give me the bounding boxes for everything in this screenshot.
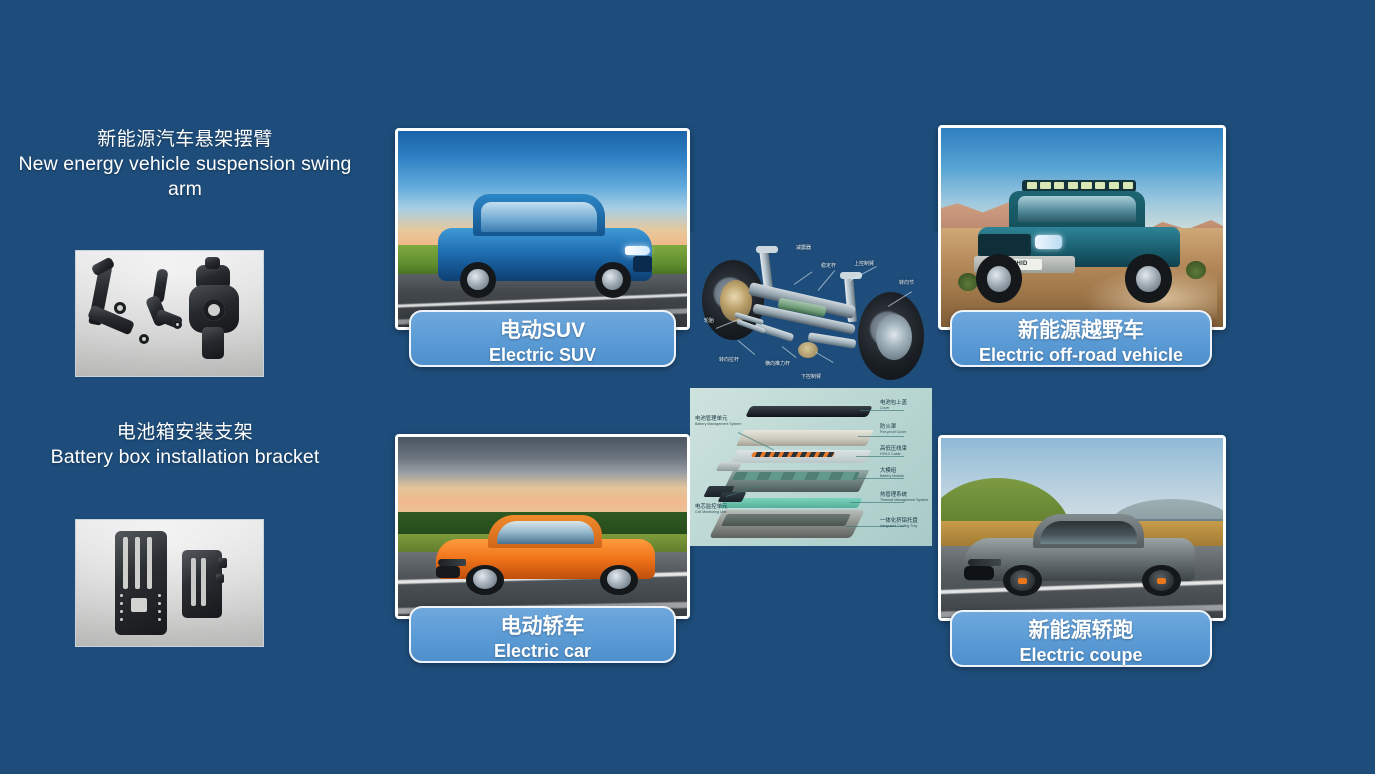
headlight xyxy=(968,559,1000,566)
control-arm-shape xyxy=(202,327,224,359)
grille xyxy=(964,566,994,579)
bracket-slot xyxy=(135,537,140,589)
leader-line xyxy=(858,436,904,437)
photo-electric-offroad: UHID xyxy=(941,128,1223,327)
bracket-tab xyxy=(216,574,224,583)
label-cn: 电动轿车 xyxy=(421,614,664,640)
part-caption-suspension: 新能源汽车悬架摆臂 New energy vehicle suspension … xyxy=(0,128,370,202)
vehicle-windows xyxy=(481,202,596,232)
chassis-label-upper-control-arm: 上控制臂 xyxy=(854,260,874,267)
label-en: Fire-proof Cover xyxy=(880,430,906,434)
card-electric-coupe[interactable] xyxy=(938,435,1226,621)
diagram-suspension-chassis: 减震器 稳定杆 上控制臂 转向节 轮胎 转向拉杆 横向推力杆 下控制臂 xyxy=(690,232,938,388)
control-arm-bushing xyxy=(114,302,126,314)
part-block-suspension-swing-arm: 新能源汽车悬架摆臂 New energy vehicle suspension … xyxy=(0,128,370,202)
tray-interior xyxy=(721,514,851,526)
bracket-hole xyxy=(120,602,123,605)
label-en: Electric off-road vehicle xyxy=(962,344,1200,367)
wheel-rim xyxy=(876,314,912,360)
label-electric-suv[interactable]: 电动SUV Electric SUV xyxy=(409,310,676,367)
battery-label-cooling-tray: 一体化挤铝托盘 Integrated Cooling Tray xyxy=(880,518,918,528)
battery-label-thermal-management: 热管理系统 Thermal Management System xyxy=(880,492,928,502)
wheel-rim xyxy=(1136,266,1160,292)
vehicle-silhouette-suv xyxy=(438,192,652,298)
label-en: Cover xyxy=(880,406,907,410)
studio-backdrop xyxy=(76,520,263,646)
bracket-slot xyxy=(147,537,152,589)
photo-electric-coupe xyxy=(941,438,1223,618)
part-caption-cn: 电池箱安装支架 xyxy=(12,421,358,445)
label-en: Electric SUV xyxy=(421,344,664,367)
bracket-slot xyxy=(191,558,196,606)
leader-line xyxy=(818,270,835,291)
chassis-label-steering-tie-rod: 转向拉杆 xyxy=(719,356,739,363)
control-arm-shape xyxy=(205,257,220,269)
battery-label-hv-lv-cable: 高低压线束 HV/LV Cable xyxy=(880,446,907,456)
part-photo-battery-bracket xyxy=(75,519,264,647)
leader-line xyxy=(794,271,813,284)
photo-electric-suv xyxy=(398,131,687,327)
battery-layer-fireproof-cover xyxy=(736,430,874,446)
chassis-label-steering-knuckle: 转向节 xyxy=(899,279,914,286)
label-en: HV/LV Cable xyxy=(880,452,907,456)
wheel-rim xyxy=(467,269,488,290)
vehicle-silhouette-sedan xyxy=(436,505,656,595)
label-cn: 电动SUV xyxy=(421,318,664,344)
bracket-hole xyxy=(120,610,123,613)
battery-layer-cover xyxy=(745,406,872,417)
label-en: Battery Module xyxy=(880,474,904,478)
bracket-tab xyxy=(218,558,227,568)
chassis-label-stabilizer-bar: 稳定杆 xyxy=(821,262,836,269)
vehicle-silhouette-offroad: UHID xyxy=(969,180,1189,303)
label-en: Cell Monitoring Unit xyxy=(695,510,727,514)
control-arm-bushing xyxy=(139,334,149,344)
card-electric-car[interactable] xyxy=(395,434,690,619)
battery-label-cover: 电池包上盖 Cover xyxy=(880,400,907,410)
vehicle-windows xyxy=(497,521,594,544)
vehicle-windows xyxy=(1040,521,1137,544)
battery-module-cells xyxy=(732,472,860,480)
battery-management-unit xyxy=(716,462,742,471)
headlight xyxy=(438,559,467,566)
chassis-label-lateral-thrust-rod: 横向推力杆 xyxy=(765,360,790,367)
label-en: Electric car xyxy=(421,640,664,663)
spring-seat-hole xyxy=(203,299,225,321)
card-electric-suv[interactable] xyxy=(395,128,690,330)
bracket-hole xyxy=(158,602,161,605)
battery-label-bms: 电池管理单元 Battery Management System xyxy=(695,416,741,426)
photo-electric-car xyxy=(398,437,687,616)
grille xyxy=(633,256,652,272)
label-en: Thermal Management System xyxy=(880,498,928,502)
part-caption-en: Battery box installation bracket xyxy=(12,445,358,470)
chassis-label-shock-absorber: 减震器 xyxy=(796,244,811,251)
part-caption-cn: 新能源汽车悬架摆臂 xyxy=(12,128,358,152)
grille xyxy=(436,566,460,578)
label-en: Battery Management System xyxy=(695,422,741,426)
part-block-battery-bracket: 电池箱安装支架 Battery box installation bracket xyxy=(0,421,370,470)
bracket-slot xyxy=(201,558,206,606)
leader-line xyxy=(782,346,797,358)
brake-caliper xyxy=(1157,578,1166,585)
leader-line xyxy=(816,352,834,363)
chassis-label-tire: 轮胎 xyxy=(704,317,714,324)
bracket-hole xyxy=(120,618,123,621)
card-electric-offroad[interactable]: UHID xyxy=(938,125,1226,330)
bracket-hole xyxy=(158,610,161,613)
battery-label-fireproof-cover: 防火罩 Fire-proof Cover xyxy=(880,424,906,434)
bracket-hole xyxy=(120,594,123,597)
leader-line xyxy=(738,340,755,355)
label-electric-coupe[interactable]: 新能源轿跑 Electric coupe xyxy=(950,610,1212,667)
cable-harness-detail xyxy=(751,452,835,457)
label-en: Electric coupe xyxy=(962,644,1200,667)
vehicle-windows xyxy=(1018,196,1137,222)
bracket-window xyxy=(131,598,147,612)
part-caption-en: New energy vehicle suspension swing arm xyxy=(12,152,358,202)
label-cn: 新能源越野车 xyxy=(962,318,1200,344)
bracket-slot xyxy=(123,537,128,589)
battery-label-battery-module: 大模组 Battery Module xyxy=(880,468,904,478)
strut-mount xyxy=(756,246,778,253)
vehicle-silhouette-coupe xyxy=(964,503,1195,597)
slide-root: 新能源汽车悬架摆臂 New energy vehicle suspension … xyxy=(0,0,1375,774)
grille xyxy=(978,234,1031,256)
differential-joint xyxy=(798,342,818,358)
battery-label-cell-monitoring: 电芯监控单元 Cell Monitoring Unit xyxy=(695,504,727,514)
headlight xyxy=(1035,235,1061,249)
headlight xyxy=(625,246,651,256)
bracket-hole xyxy=(158,594,161,597)
part-caption-battery-bracket: 电池箱安装支架 Battery box installation bracket xyxy=(0,421,370,470)
wheel-rim xyxy=(987,266,1011,292)
label-en: Integrated Cooling Tray xyxy=(880,524,918,528)
part-photo-suspension-swing-arm xyxy=(75,250,264,377)
brake-caliper xyxy=(1018,578,1027,585)
label-electric-offroad[interactable]: 新能源越野车 Electric off-road vehicle xyxy=(950,310,1212,367)
bracket-hole xyxy=(158,618,161,621)
label-cn: 新能源轿跑 xyxy=(962,618,1200,644)
diagram-battery-pack: 电池包上盖 Cover 防火罩 Fire-proof Cover 高低压线束 H… xyxy=(690,388,932,546)
label-electric-car[interactable]: 电动轿车 Electric car xyxy=(409,606,676,663)
left-parts-column: 新能源汽车悬架摆臂 New energy vehicle suspension … xyxy=(0,0,370,774)
chassis-label-lower-control-arm: 下控制臂 xyxy=(801,373,821,380)
control-arm-bushing xyxy=(173,320,182,329)
